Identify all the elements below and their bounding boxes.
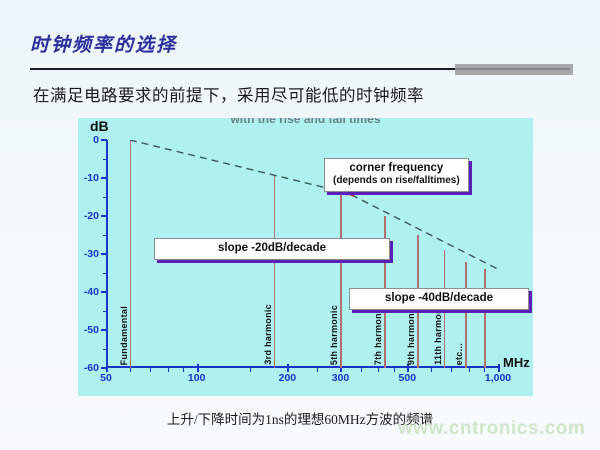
x-tick-label: 500	[399, 372, 417, 384]
site-watermark: www.cntronics.com	[398, 418, 585, 440]
callout-corner-frequency: corner frequency (depends on rise/fallti…	[324, 158, 469, 192]
y-tick-label: -30	[84, 248, 99, 260]
callout-corner-subtitle: (depends on rise/falltimes)	[333, 175, 460, 187]
title-divider-accent	[455, 64, 573, 75]
y-axis-unit-label: dB	[90, 118, 109, 134]
spectrum-figure: with the rise and fall times dB MHz 0-10…	[78, 118, 533, 396]
y-tick-label: -60	[84, 362, 99, 374]
x-axis-unit-label: MHz	[503, 355, 530, 370]
x-tick	[498, 364, 500, 372]
y-tick-label: -40	[84, 286, 99, 298]
y-tick-label: -50	[84, 324, 99, 336]
y-tick-label: -20	[84, 210, 99, 222]
x-tick-label: 300	[332, 372, 350, 384]
callout-slope-40: slope -40dB/decade	[349, 288, 529, 310]
callout-slope-20: slope -20dB/decade	[154, 238, 390, 260]
x-tick-label: 200	[279, 372, 297, 384]
x-tick-label: 1,000	[485, 372, 511, 384]
y-tick-label: 0	[93, 134, 99, 146]
plot-area: 0-10-20-30-40-50-60 501002003005001,000 …	[106, 140, 498, 368]
figure-clipped-heading: with the rise and fall times	[78, 118, 533, 126]
page-title: 时钟频率的选择	[30, 30, 177, 57]
slide-subtitle: 在满足电路要求的前提下，采用尽可能低的时钟频率	[33, 82, 424, 106]
x-tick-label: 50	[100, 372, 112, 384]
x-tick-label: 100	[188, 372, 206, 384]
y-tick-label: -10	[84, 172, 99, 184]
callout-corner-title: corner frequency	[349, 162, 443, 174]
